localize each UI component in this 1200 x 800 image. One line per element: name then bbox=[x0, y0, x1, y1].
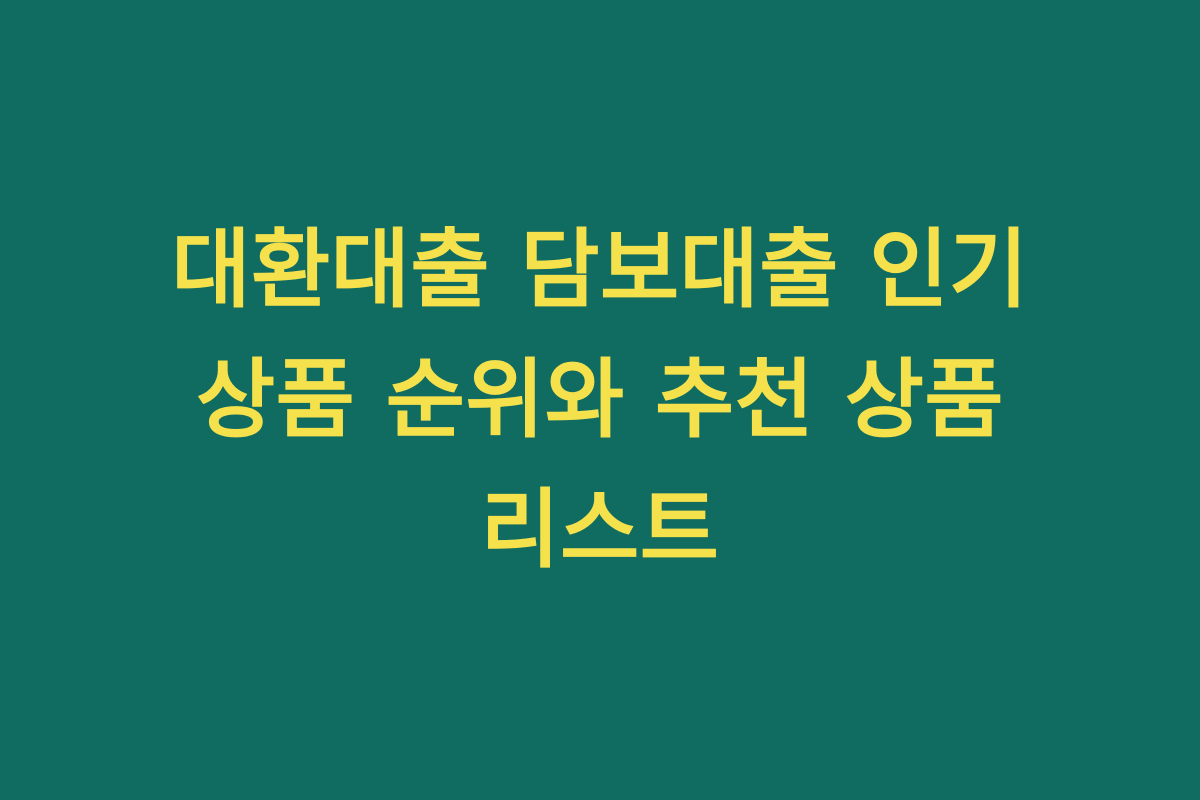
headline-line-2: 상품 순위와 추천 상품 bbox=[70, 335, 1130, 465]
page-title: 대환대출 담보대출 인기 상품 순위와 추천 상품 리스트 bbox=[70, 205, 1130, 595]
headline-line-3: 리스트 bbox=[70, 465, 1130, 595]
banner-canvas: 대환대출 담보대출 인기 상품 순위와 추천 상품 리스트 bbox=[0, 0, 1200, 800]
headline-line-1: 대환대출 담보대출 인기 bbox=[70, 205, 1130, 335]
